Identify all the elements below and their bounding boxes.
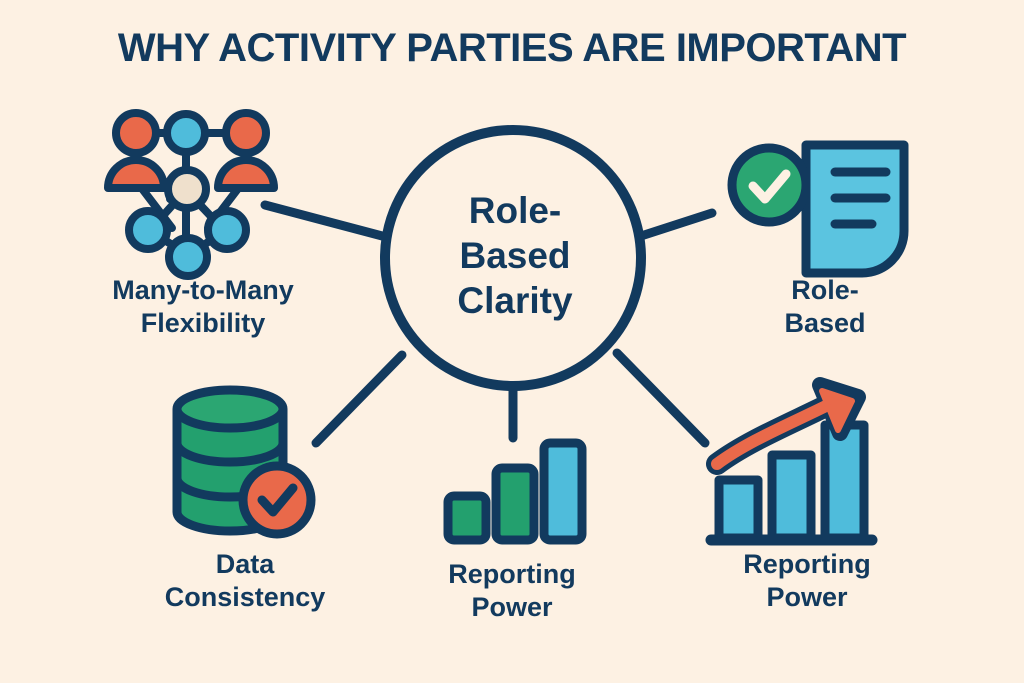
document-check-icon (732, 145, 904, 273)
node-label-line-1: Data (100, 548, 390, 581)
network-people-icon (108, 113, 274, 276)
bar-chart-bar-3 (544, 443, 582, 540)
database-top (177, 390, 283, 428)
hub-label: Role- Based Clarity (392, 188, 638, 323)
node-label-role-based: Role- Based (700, 274, 950, 340)
node-label-reporting-power-right: Reporting Power (672, 548, 942, 614)
connector-to-data-consistency (316, 355, 402, 443)
growth-bar-3 (825, 425, 864, 538)
node-label-line-1: Role- (700, 274, 950, 307)
network-node-lower-left (129, 211, 167, 249)
hub-label-line-2: Based (392, 233, 638, 278)
connector-to-role-based (641, 213, 712, 236)
hub-label-line-3: Clarity (392, 278, 638, 323)
node-label-line-2: Based (700, 307, 950, 340)
network-node-lower-right (208, 211, 246, 249)
node-label-line-2: Consistency (100, 581, 390, 614)
node-label-line-1: Many-to-Many (48, 274, 358, 307)
growth-bar-2 (772, 455, 811, 538)
connector-to-many-to-many (265, 205, 386, 237)
node-label-data-consistency: Data Consistency (100, 548, 390, 614)
network-node-top (167, 114, 205, 152)
connector-to-reporting-right (617, 353, 705, 443)
network-node-bottom (169, 238, 207, 276)
node-label-line-2: Power (392, 591, 632, 624)
database-check-circle (243, 466, 311, 534)
database-check-icon (177, 390, 311, 534)
infographic-canvas: WHY ACTIVITY PARTIES ARE IMPORTANT Role-… (0, 0, 1024, 683)
bar-chart-icon (448, 443, 582, 540)
approved-check-circle (732, 148, 806, 222)
page-title: WHY ACTIVITY PARTIES ARE IMPORTANT (0, 26, 1024, 71)
bar-chart-bar-1 (448, 496, 486, 540)
node-label-line-1: Reporting (672, 548, 942, 581)
node-label-reporting-power-center: Reporting Power (392, 558, 632, 624)
growth-chart-arrow-icon (711, 385, 872, 540)
bar-chart-bar-2 (496, 468, 534, 540)
person-node-left (108, 113, 164, 188)
growth-bar-1 (719, 480, 758, 538)
node-label-line-2: Flexibility (48, 307, 358, 340)
node-label-line-1: Reporting (392, 558, 632, 591)
hub-label-line-1: Role- (392, 188, 638, 233)
person-node-right (218, 113, 274, 188)
document-sheet (806, 145, 904, 273)
node-label-line-2: Power (672, 581, 942, 614)
network-node-center (168, 170, 206, 208)
node-label-many-to-many-flexibility: Many-to-Many Flexibility (48, 274, 358, 340)
